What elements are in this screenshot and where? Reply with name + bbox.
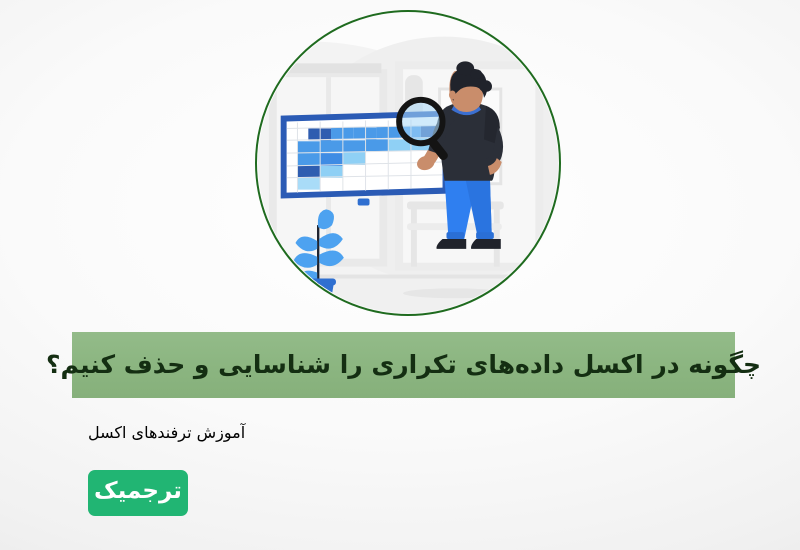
brand-logo[interactable]: ترجمیک — [88, 470, 188, 516]
page-title: چگونه در اکسل داده‌های تکراری را شناسایی… — [46, 352, 761, 379]
title-banner: چگونه در اکسل داده‌های تکراری را شناسایی… — [72, 332, 735, 398]
poster-canvas: چگونه در اکسل داده‌های تکراری را شناسایی… — [0, 0, 800, 550]
brand-logo-text: ترجمیک — [94, 480, 182, 506]
illustration-circle — [255, 10, 561, 316]
subtitle-container: آموزش ترفندهای اکسل — [88, 415, 328, 449]
subtitle-text: آموزش ترفندهای اکسل — [88, 423, 245, 442]
